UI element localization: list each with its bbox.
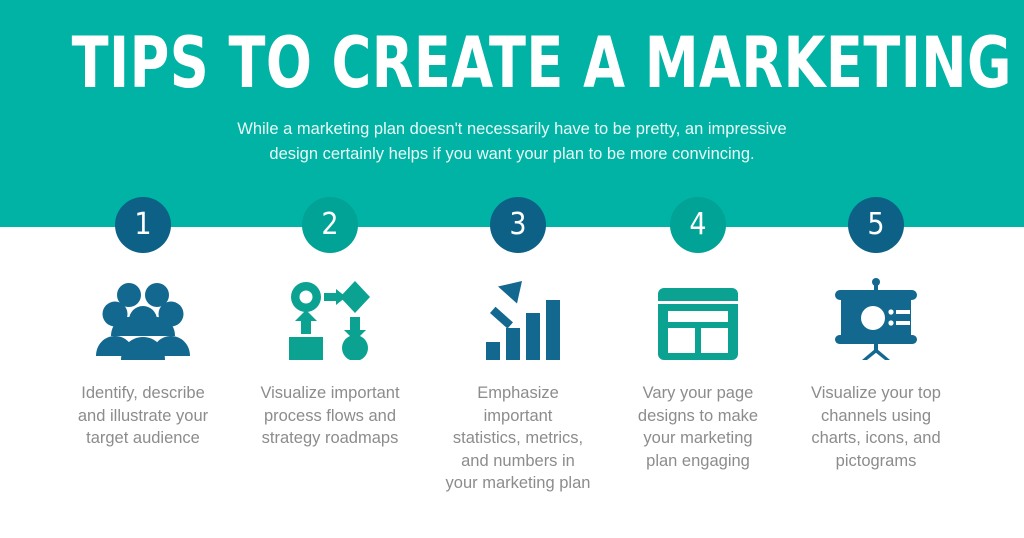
caption-line: statistics, metrics, xyxy=(421,427,615,450)
page-layout-icon xyxy=(650,278,746,360)
tip-caption-1: Identify, describe and illustrate your t… xyxy=(46,382,240,450)
group-of-people-icon xyxy=(95,278,191,360)
caption-line: strategy roadmaps xyxy=(233,427,427,450)
caption-line: Identify, describe xyxy=(46,382,240,405)
caption-line: charts, icons, and xyxy=(779,427,973,450)
bar-chart-growth-icon xyxy=(470,278,566,360)
caption-line: designs to make xyxy=(601,405,795,428)
tip-column-3: 3 Emphasize importa xyxy=(423,0,613,538)
caption-line: plan engaging xyxy=(601,450,795,473)
caption-line: important xyxy=(421,405,615,428)
caption-line: Visualize important xyxy=(233,382,427,405)
step-number-badge-5: 5 xyxy=(848,197,904,253)
step-number-badge-2: 2 xyxy=(302,197,358,253)
tip-column-4: 4 Vary your page de xyxy=(603,0,793,538)
caption-line: channels using xyxy=(779,405,973,428)
flowchart-icon xyxy=(282,278,378,360)
caption-line: Emphasize xyxy=(421,382,615,405)
tip-column-2: 2 xyxy=(235,0,425,538)
step-number-badge-3: 3 xyxy=(490,197,546,253)
tip-caption-5: Visualize your top channels using charts… xyxy=(779,382,973,472)
step-number-badge-1: 1 xyxy=(115,197,171,253)
tip-caption-4: Vary your page designs to make your mark… xyxy=(601,382,795,472)
caption-line: Vary your page xyxy=(601,382,795,405)
caption-line: pictograms xyxy=(779,450,973,473)
tip-column-5: 5 xyxy=(781,0,971,538)
caption-line: target audience xyxy=(46,427,240,450)
step-number-badge-4: 4 xyxy=(670,197,726,253)
infographic-root: TIPS TO CREATE A MARKETING PLAN While a … xyxy=(0,0,1024,538)
tips-columns: 1 xyxy=(0,0,1024,538)
caption-line: your marketing xyxy=(601,427,795,450)
caption-line: Visualize your top xyxy=(779,382,973,405)
caption-line: your marketing plan xyxy=(421,472,615,495)
presentation-board-icon xyxy=(828,278,924,360)
tip-caption-3: Emphasize important statistics, metrics,… xyxy=(421,382,615,495)
caption-line: and numbers in xyxy=(421,450,615,473)
tip-caption-2: Visualize important process flows and st… xyxy=(233,382,427,450)
caption-line: process flows and xyxy=(233,405,427,428)
caption-line: and illustrate your xyxy=(46,405,240,428)
tip-column-1: 1 xyxy=(48,0,238,538)
